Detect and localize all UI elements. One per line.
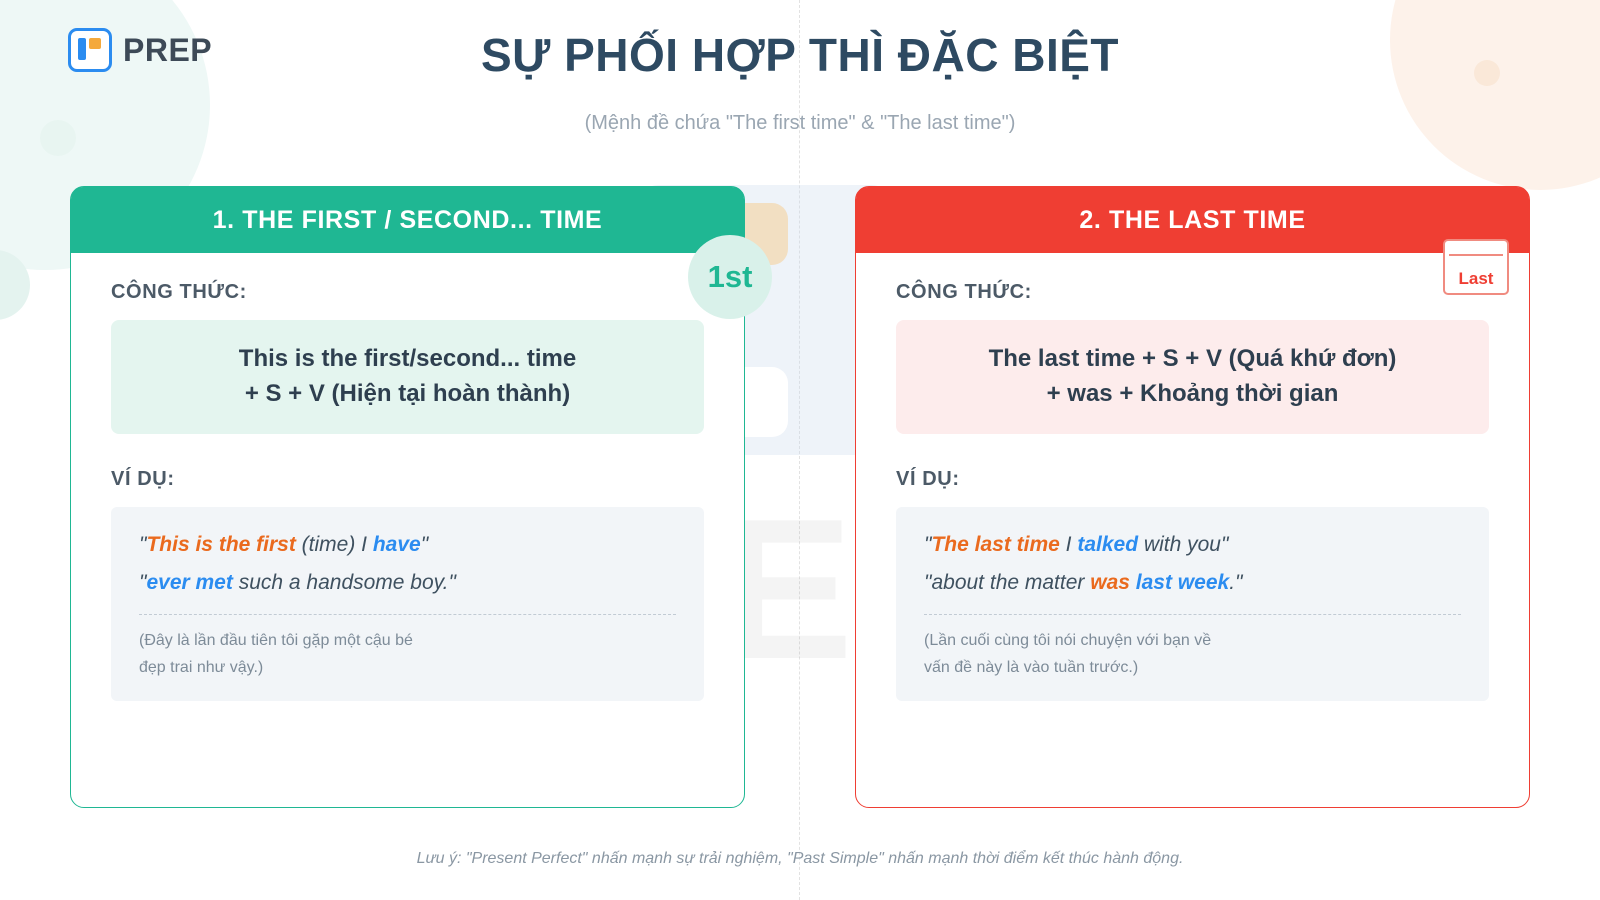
example-left-highlight-2: have — [373, 533, 421, 556]
example-left-highlight-1: This is the first — [146, 533, 295, 556]
example-left-line-1: "This is the first (time) I have" — [139, 529, 676, 562]
example-right-pre: about the matter — [931, 571, 1090, 594]
note-right-line-2: vấn đề này là vào tuần trước.) — [924, 654, 1461, 681]
formula-left-line-2: + S + V (Hiện tại hoàn thành) — [131, 377, 684, 412]
card-left-header: 1. THE FIRST / SECOND... TIME — [71, 187, 744, 253]
example-right-highlight-2: talked — [1077, 533, 1138, 556]
card-right-header: 2. THE LAST TIME — [856, 187, 1529, 253]
formula-label-right: CÔNG THỨC: — [896, 281, 1489, 304]
card-left-title: 1. THE FIRST / SECOND... TIME — [213, 206, 603, 235]
example-box-left: "This is the first (time) I have" "ever … — [111, 507, 704, 701]
page-subtitle: (Mệnh đề chứa "The first time" & "The la… — [0, 112, 1600, 135]
card-the-last-time: 2. THE LAST TIME Last CÔNG THỨC: The las… — [855, 186, 1530, 808]
example-right-mid-2: with you — [1138, 533, 1221, 556]
quote-close-3: " — [1221, 533, 1228, 556]
formula-right-line-1: The last time + S + V (Quá khứ đơn) — [916, 342, 1469, 377]
example-left-rest: such a handsome boy." — [233, 571, 456, 594]
example-right-line-1: "The last time I talked with you" — [924, 529, 1461, 562]
note-right-line-1: (Lần cuối cùng tôi nói chuyện với bạn về — [924, 627, 1461, 654]
card-left-body: CÔNG THỨC: This is the first/second... t… — [71, 253, 744, 701]
badge-last-label: Last — [1445, 269, 1507, 289]
formula-box-right: The last time + S + V (Quá khứ đơn) + wa… — [896, 320, 1489, 434]
example-note-right: (Lần cuối cùng tôi nói chuyện với bạn về… — [924, 627, 1461, 681]
note-left-line-1: (Đây là lần đầu tiên tôi gặp một cậu bé — [139, 627, 676, 654]
example-label-right: VÍ DỤ: — [896, 468, 1489, 491]
note-left-line-2: đẹp trai như vậy.) — [139, 654, 676, 681]
card-the-first-time: 1. THE FIRST / SECOND... TIME 1st CÔNG T… — [70, 186, 745, 808]
formula-left-line-1: This is the first/second... time — [131, 342, 684, 377]
example-right-highlight-4: last week — [1136, 571, 1229, 594]
badge-last-icon: Last — [1443, 239, 1509, 295]
quote-close: " — [421, 533, 428, 556]
example-right-mid: I — [1060, 533, 1078, 556]
example-left-highlight-3: ever met — [146, 571, 232, 594]
example-divider-left — [139, 614, 676, 615]
example-left-mid: (time) I — [296, 533, 373, 556]
card-right-title: 2. THE LAST TIME — [1079, 206, 1305, 235]
example-divider-right — [924, 614, 1461, 615]
example-box-right: "The last time I talked with you" "about… — [896, 507, 1489, 701]
card-right-body: CÔNG THỨC: The last time + S + V (Quá kh… — [856, 253, 1529, 701]
example-left-line-2: "ever met such a handsome boy." — [139, 567, 676, 600]
footnote: Lưu ý: "Present Perfect" nhấn mạnh sự tr… — [0, 850, 1600, 868]
formula-right-line-2: + was + Khoảng thời gian — [916, 377, 1469, 412]
formula-label-left: CÔNG THỨC: — [111, 281, 704, 304]
formula-box-left: This is the first/second... time + S + V… — [111, 320, 704, 434]
example-right-highlight-3: was — [1090, 571, 1130, 594]
example-note-left: (Đây là lần đầu tiên tôi gặp một cậu bé … — [139, 627, 676, 681]
example-label-left: VÍ DỤ: — [111, 468, 704, 491]
quote-close-4: ." — [1229, 571, 1242, 594]
page-title: SỰ PHỐI HỢP THÌ ĐẶC BIỆT — [0, 28, 1600, 82]
badge-1st-icon: 1st — [688, 235, 772, 319]
center-divider — [799, 0, 800, 900]
example-right-line-2: "about the matter was last week." — [924, 567, 1461, 600]
example-right-highlight-1: The last time — [931, 533, 1059, 556]
badge-1st-label: 1st — [708, 259, 753, 295]
